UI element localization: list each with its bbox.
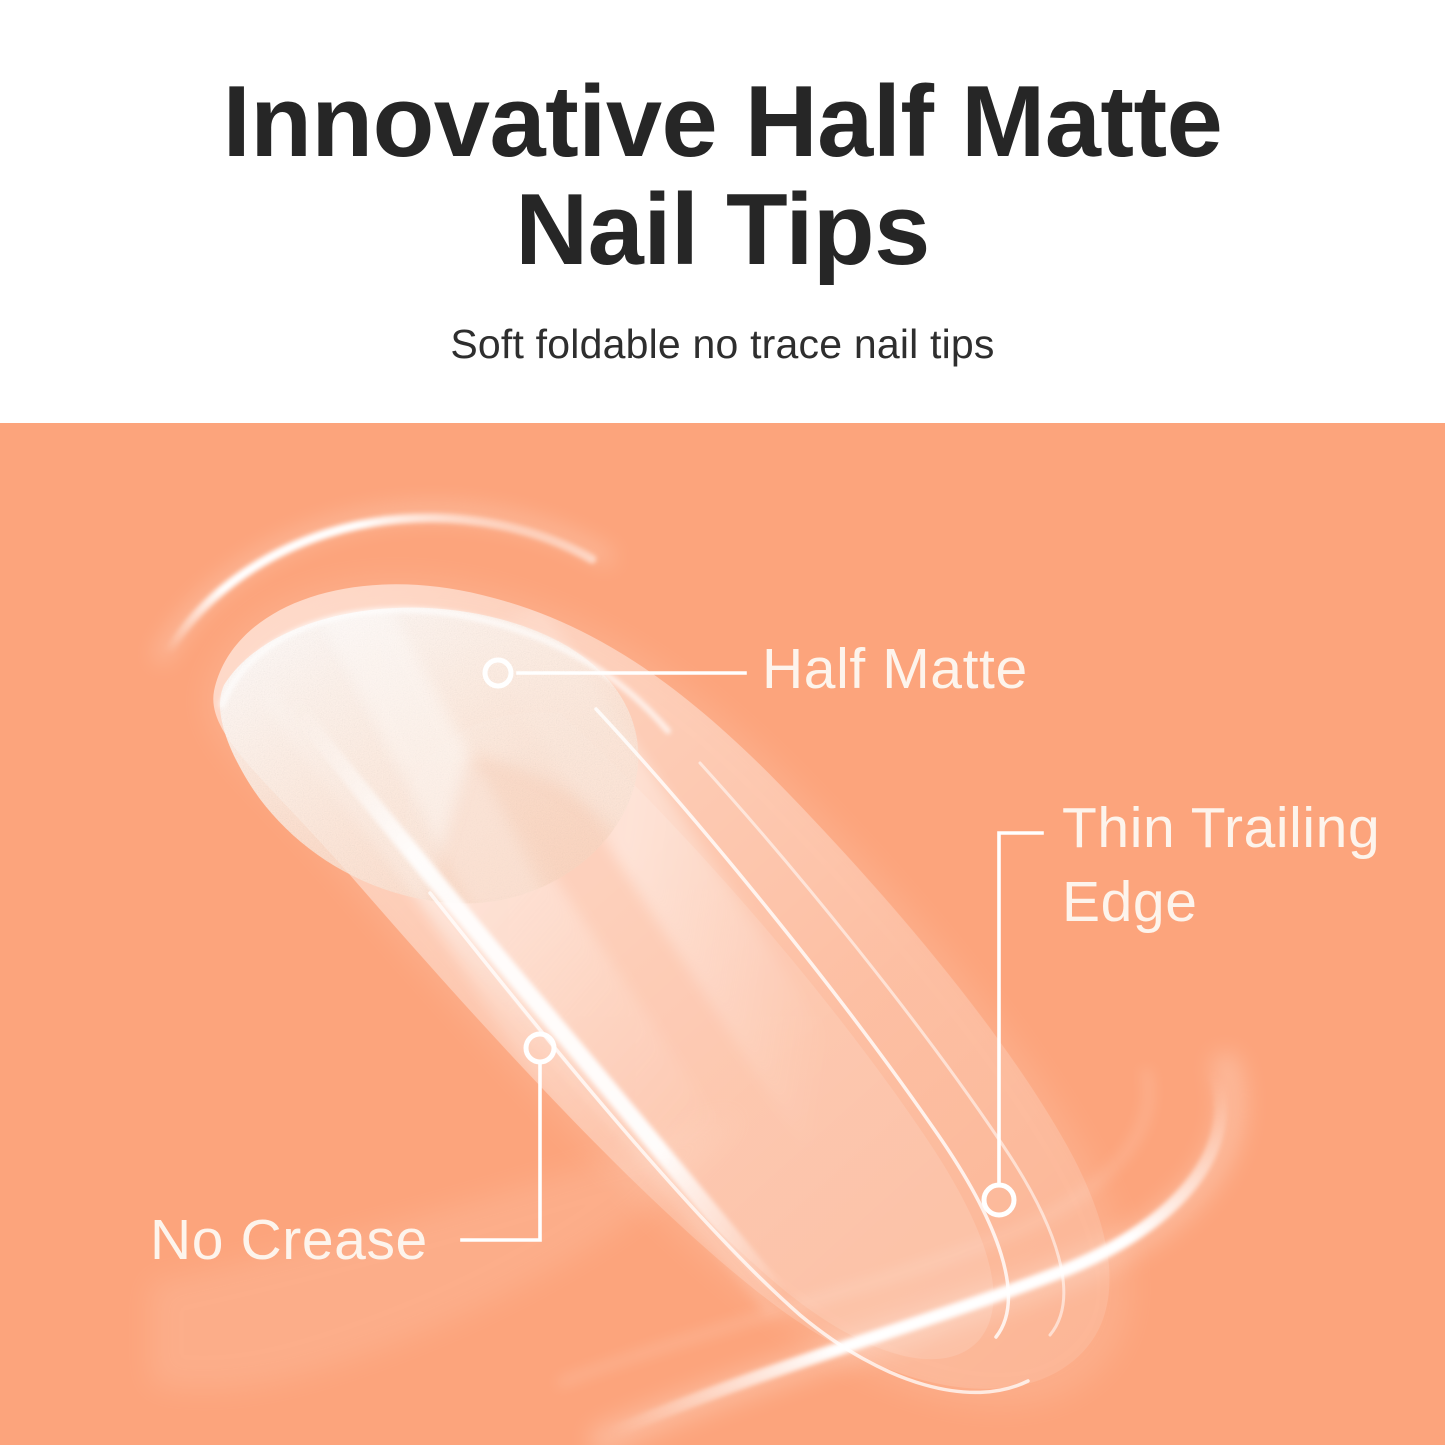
callout-label-half-matte: Half Matte [762,636,1028,702]
page-title: Innovative Half Matte Nail Tips [0,68,1445,284]
hero-panel: Half Matte Thin Trailing Edge No Crease [0,423,1445,1445]
product-infographic: Innovative Half Matte Nail Tips Soft fol… [0,0,1445,1445]
page-subtitle: Soft foldable no trace nail tips [0,318,1445,370]
callout-label-thin-trailing-edge: Thin Trailing Edge [1062,791,1380,939]
header-panel: Innovative Half Matte Nail Tips Soft fol… [0,0,1445,423]
callout-label-no-crease: No Crease [150,1207,428,1273]
